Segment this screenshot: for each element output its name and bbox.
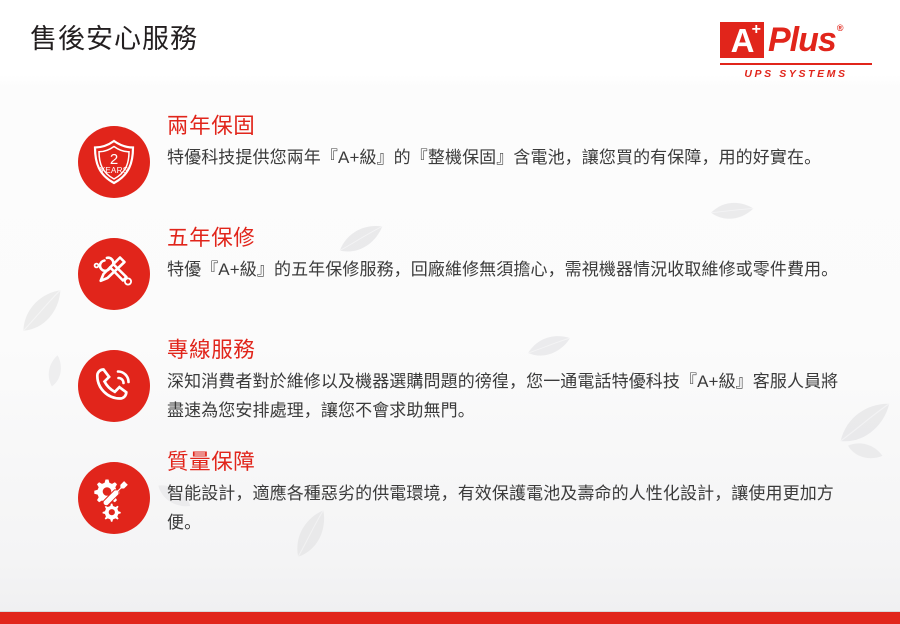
logo-plus-superscript-icon: + (752, 22, 761, 38)
svg-text:YEARS: YEARS (100, 166, 129, 175)
slide-header: 售後安心服務 A + Plus ® UPS SYSTEMS (0, 0, 900, 88)
logo-a-mark: A + (720, 22, 764, 58)
feature-text: 五年保修 特優『A+級』的五年保修服務，回廠維修無須擔心，需視機器情況收取維修或… (167, 220, 849, 284)
logo-wordmark: A + Plus ® (720, 22, 880, 60)
feature-description: 特優科技提供您兩年『A+級』的『整機保固』含電池，讓您買的有保障，用的好實在。 (167, 143, 849, 172)
feature-title: 兩年保固 (167, 112, 849, 140)
feature-title: 專線服務 (167, 336, 849, 364)
feature-description: 特優『A+級』的五年保修服務，回廠維修無須擔心，需視機器情況收取維修或零件費用。 (167, 255, 849, 284)
feature-description: 深知消費者對於維修以及機器選購問題的徬徨，您一通電話特優科技『A+級』客服人員將… (167, 367, 849, 425)
registered-trademark-icon: ® (837, 24, 844, 33)
feature-text: 兩年保固 特優科技提供您兩年『A+級』的『整機保固』含電池，讓您買的有保障，用的… (167, 108, 849, 172)
logo-subtitle: UPS SYSTEMS (720, 68, 872, 80)
page-title: 售後安心服務 (30, 22, 198, 56)
feature-title: 質量保障 (167, 448, 849, 476)
feature-item: 2 YEARS 兩年保固 特優科技提供您兩年『A+級』的『整機保固』含電池，讓您… (0, 108, 900, 220)
feature-title: 五年保修 (167, 224, 849, 252)
logo-letter-a: A (731, 24, 754, 57)
footer-accent-bar (0, 612, 900, 624)
feature-item: 質量保障 智能設計，適應各種惡劣的供電環境，有效保護電池及壽命的人性化設計，讓使… (0, 444, 900, 556)
feature-text: 質量保障 智能設計，適應各種惡劣的供電環境，有效保護電池及壽命的人性化設計，讓使… (167, 444, 849, 537)
gears-wrench-icon (78, 462, 150, 534)
logo-divider (720, 63, 872, 65)
feature-item: 五年保修 特優『A+級』的五年保修服務，回廠維修無須擔心，需視機器情況收取維修或… (0, 220, 900, 332)
feature-item: 專線服務 深知消費者對於維修以及機器選購問題的徬徨，您一通電話特優科技『A+級』… (0, 332, 900, 444)
shield-2-years-icon: 2 YEARS (78, 126, 150, 198)
slide-canvas: 售後安心服務 A + Plus ® UPS SYSTEMS 2 (0, 0, 900, 624)
feature-list: 2 YEARS 兩年保固 特優科技提供您兩年『A+級』的『整機保固』含電池，讓您… (0, 108, 900, 556)
brand-logo: A + Plus ® UPS SYSTEMS (720, 22, 880, 80)
feature-text: 專線服務 深知消費者對於維修以及機器選購問題的徬徨，您一通電話特優科技『A+級』… (167, 332, 849, 425)
logo-word-plus: Plus (768, 23, 836, 57)
phone-ringing-icon (78, 350, 150, 422)
wrench-screwdriver-icon (78, 238, 150, 310)
feature-description: 智能設計，適應各種惡劣的供電環境，有效保護電池及壽命的人性化設計，讓使用更加方便… (167, 479, 849, 537)
